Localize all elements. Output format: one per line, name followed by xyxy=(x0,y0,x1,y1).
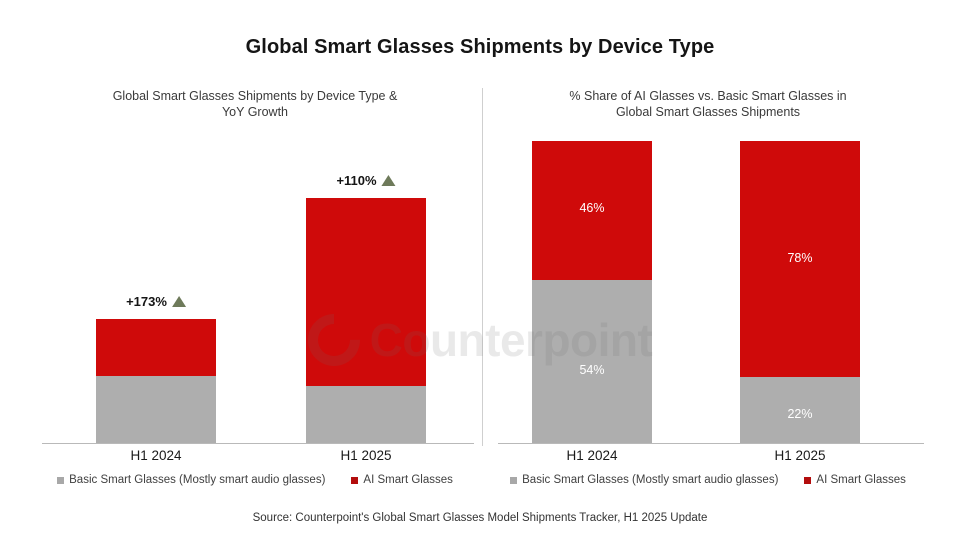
chart-page: Global Smart Glasses Shipments by Device… xyxy=(0,0,960,540)
share-label-ai-h1-2024: 46% xyxy=(532,201,652,215)
legend-item-basic-smart-glasses[interactable]: Basic Smart Glasses (Mostly smart audio … xyxy=(510,474,778,486)
segment-basic-smart-glasses[interactable] xyxy=(306,386,426,443)
legend-item-ai-smart-glasses[interactable]: AI Smart Glasses xyxy=(351,474,452,486)
panel-divider xyxy=(482,88,483,446)
left-axis-baseline xyxy=(42,443,474,444)
page-title: Global Smart Glasses Shipments by Device… xyxy=(0,36,960,59)
right-subtitle-line-2: Global Smart Glasses Shipments xyxy=(486,104,930,120)
growth-value-h1-2024: +173% xyxy=(126,294,167,309)
right-bar-h1-2024[interactable]: 46% 54% xyxy=(532,141,652,443)
legend-label-ai: AI Smart Glasses xyxy=(363,474,452,486)
legend-label-basic: Basic Smart Glasses (Mostly smart audio … xyxy=(522,474,778,486)
segment-ai-smart-glasses[interactable]: 78% xyxy=(740,141,860,377)
stacked-bar: 78% 22% xyxy=(740,141,860,443)
legend-label-basic: Basic Smart Glasses (Mostly smart audio … xyxy=(69,474,325,486)
left-chart-subtitle: Global Smart Glasses Shipments by Device… xyxy=(30,88,480,120)
triangle-up-icon xyxy=(172,296,186,307)
segment-ai-smart-glasses[interactable] xyxy=(306,198,426,386)
legend-swatch-red-icon xyxy=(804,477,811,484)
right-subtitle-line-1: % Share of AI Glasses vs. Basic Smart Gl… xyxy=(486,88,930,104)
left-chart-panel: Global Smart Glasses Shipments by Device… xyxy=(30,88,480,498)
right-plot-area: 46% 54% 78% 22% xyxy=(486,128,930,444)
segment-ai-smart-glasses[interactable]: 46% xyxy=(532,141,652,280)
segment-ai-smart-glasses[interactable] xyxy=(96,319,216,376)
right-axis-baseline xyxy=(498,443,924,444)
legend-label-ai: AI Smart Glasses xyxy=(816,474,905,486)
stacked-bar xyxy=(306,198,426,443)
segment-basic-smart-glasses[interactable]: 22% xyxy=(740,377,860,443)
legend-item-basic-smart-glasses[interactable]: Basic Smart Glasses (Mostly smart audio … xyxy=(57,474,325,486)
right-category-label-h1-2025: H1 2025 xyxy=(740,448,860,463)
triangle-up-icon xyxy=(382,175,396,186)
growth-annotation-h1-2025: +110% xyxy=(336,173,395,188)
source-note: Source: Counterpoint's Global Smart Glas… xyxy=(0,512,960,524)
right-chart-panel: % Share of AI Glasses vs. Basic Smart Gl… xyxy=(486,88,930,498)
legend-item-ai-smart-glasses[interactable]: AI Smart Glasses xyxy=(804,474,905,486)
growth-annotation-h1-2024: +173% xyxy=(126,294,186,309)
right-category-label-h1-2024: H1 2024 xyxy=(532,448,652,463)
legend-swatch-red-icon xyxy=(351,477,358,484)
stacked-bar xyxy=(96,319,216,443)
share-label-ai-h1-2025: 78% xyxy=(740,251,860,265)
share-label-basic-h1-2025: 22% xyxy=(740,407,860,421)
stacked-bar: 46% 54% xyxy=(532,141,652,443)
left-bar-h1-2025[interactable]: +110% xyxy=(306,198,426,443)
right-legend: Basic Smart Glasses (Mostly smart audio … xyxy=(486,474,930,486)
left-category-label-h1-2024: H1 2024 xyxy=(96,448,216,463)
segment-basic-smart-glasses[interactable]: 54% xyxy=(532,280,652,443)
right-chart-subtitle: % Share of AI Glasses vs. Basic Smart Gl… xyxy=(486,88,930,120)
growth-value-h1-2025: +110% xyxy=(336,173,376,188)
share-label-basic-h1-2024: 54% xyxy=(532,363,652,377)
legend-swatch-gray-icon xyxy=(57,477,64,484)
left-category-label-h1-2025: H1 2025 xyxy=(306,448,426,463)
right-bar-h1-2025[interactable]: 78% 22% xyxy=(740,141,860,443)
left-plot-area: +173% +110% xyxy=(30,128,480,444)
left-subtitle-line-1: Global Smart Glasses Shipments by Device… xyxy=(30,88,480,104)
left-subtitle-line-2: YoY Growth xyxy=(30,104,480,120)
left-bar-h1-2024[interactable]: +173% xyxy=(96,319,216,443)
left-legend: Basic Smart Glasses (Mostly smart audio … xyxy=(30,474,480,486)
legend-swatch-gray-icon xyxy=(510,477,517,484)
segment-basic-smart-glasses[interactable] xyxy=(96,376,216,443)
